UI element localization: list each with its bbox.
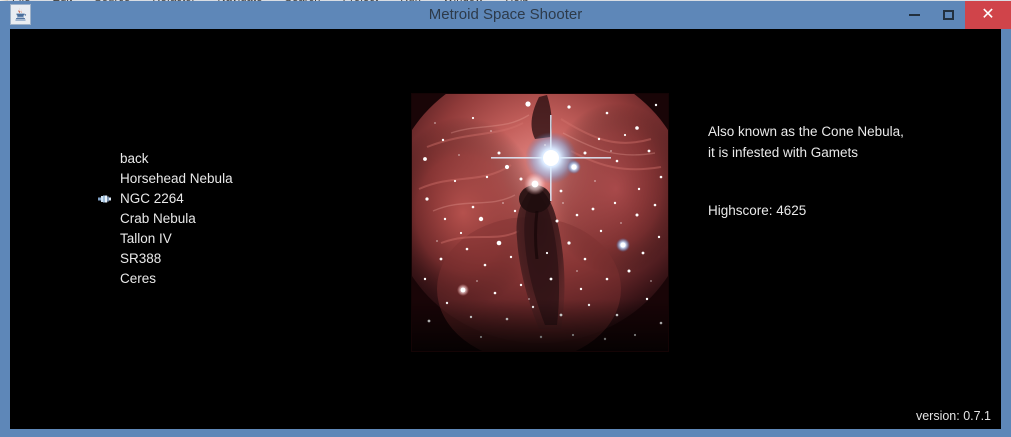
cone-nebula-image xyxy=(411,93,669,352)
version-label: version: 0.7.1 xyxy=(916,409,991,423)
info-panel: Also known as the Cone Nebula, it is inf… xyxy=(708,121,978,218)
menu-item-label: Ceres xyxy=(120,269,156,289)
maximize-icon xyxy=(943,10,954,20)
menu-item-sr388[interactable]: SR388 xyxy=(96,249,356,269)
menu-item-label: back xyxy=(120,149,149,169)
menu-item-label: NGC 2264 xyxy=(120,189,184,209)
menu-item-label: Crab Nebula xyxy=(120,209,196,229)
game-canvas[interactable]: back Horsehead Nebula NGC 2264 xyxy=(10,29,1001,429)
level-select-menu[interactable]: back Horsehead Nebula NGC 2264 xyxy=(96,149,356,289)
minimize-icon xyxy=(909,14,920,16)
highscore-label: Highscore: 4625 xyxy=(708,203,978,218)
description-line-2: it is infested with Gamets xyxy=(708,142,978,163)
menu-item-tallon-iv[interactable]: Tallon IV xyxy=(96,229,356,249)
maximize-button[interactable] xyxy=(931,1,965,29)
menu-item-ceres[interactable]: Ceres xyxy=(96,269,356,289)
window-controls: ✕ xyxy=(897,1,1011,29)
menu-item-horsehead-nebula[interactable]: Horsehead Nebula xyxy=(96,169,356,189)
description-line-1: Also known as the Cone Nebula, xyxy=(708,121,978,142)
spaceship-cursor-icon xyxy=(98,195,111,203)
menu-item-label: Horsehead Nebula xyxy=(120,169,233,189)
title-bar[interactable]: Metroid Space Shooter ✕ xyxy=(0,1,1011,29)
close-icon: ✕ xyxy=(981,7,994,23)
menu-item-ngc-2264[interactable]: NGC 2264 xyxy=(96,189,356,209)
screen-root: FileEditSourceRefactorNavigateSearchProj… xyxy=(0,0,1011,437)
application-window: Metroid Space Shooter ✕ back xyxy=(0,1,1011,437)
menu-item-label: Tallon IV xyxy=(120,229,172,249)
menu-item-back[interactable]: back xyxy=(96,149,356,169)
menu-item-label: SR388 xyxy=(120,249,161,269)
window-title: Metroid Space Shooter xyxy=(0,1,1011,29)
menu-item-crab-nebula[interactable]: Crab Nebula xyxy=(96,209,356,229)
close-button[interactable]: ✕ xyxy=(965,1,1011,29)
minimize-button[interactable] xyxy=(897,1,931,29)
